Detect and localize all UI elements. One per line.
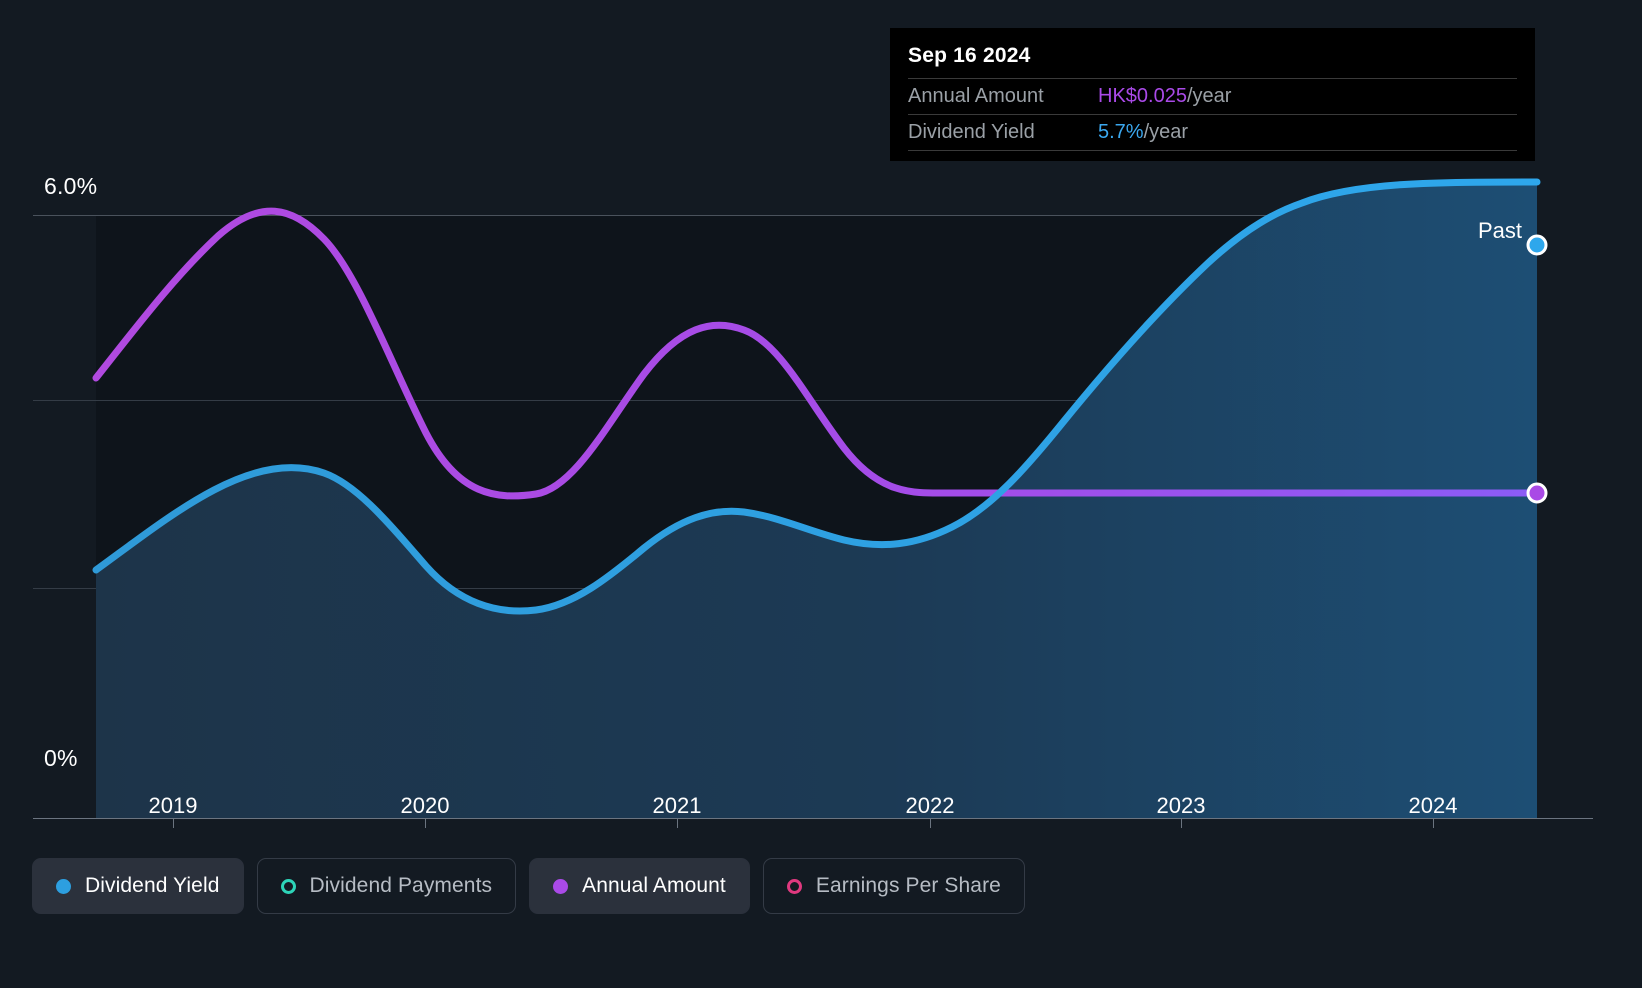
tooltip-suffix-dividend-yield: /year (1144, 121, 1188, 143)
tooltip-value-dividend-yield: 5.7%/year (1098, 121, 1188, 144)
chart-legend: Dividend Yield Dividend Payments Annual … (32, 858, 1025, 914)
legend-item-dividend-payments[interactable]: Dividend Payments (257, 858, 517, 914)
legend-label-annual-amount: Annual Amount (582, 874, 726, 898)
x-axis-label-2020: 2020 (401, 793, 450, 819)
annual-amount-end-marker (1528, 484, 1546, 502)
x-tick-2022 (930, 819, 931, 828)
legend-item-earnings-per-share[interactable]: Earnings Per Share (763, 858, 1025, 914)
tooltip-date: Sep 16 2024 (908, 44, 1517, 78)
tooltip-key-annual-amount: Annual Amount (908, 85, 1098, 108)
dividend-yield-area (96, 182, 1537, 818)
dividend-yield-end-marker (1528, 236, 1546, 254)
tooltip-value-annual-amount: HK$0.025/year (1098, 85, 1231, 108)
x-axis-label-2021: 2021 (653, 793, 702, 819)
tooltip-number-dividend-yield: 5.7% (1098, 121, 1144, 143)
past-annotation-label: Past (1478, 218, 1522, 244)
x-tick-2024 (1433, 819, 1434, 828)
legend-label-dividend-payments: Dividend Payments (310, 874, 493, 898)
plot-area (96, 215, 1537, 818)
tooltip-row-annual-amount: Annual Amount HK$0.025/year (908, 78, 1517, 114)
chart-tooltip: Sep 16 2024 Annual Amount HK$0.025/year … (890, 28, 1535, 161)
legend-item-annual-amount[interactable]: Annual Amount (529, 858, 750, 914)
legend-label-dividend-yield: Dividend Yield (85, 874, 220, 898)
legend-dot-hollow-icon (787, 879, 802, 894)
legend-label-earnings-per-share: Earnings Per Share (816, 874, 1001, 898)
y-axis-label-top: 6.0% (44, 173, 97, 200)
y-axis-label-zero: 0% (44, 745, 78, 772)
x-tick-2023 (1181, 819, 1182, 828)
tooltip-key-dividend-yield: Dividend Yield (908, 121, 1098, 144)
chart-svg (96, 215, 1537, 818)
x-tick-2019 (173, 819, 174, 828)
x-tick-2020 (425, 819, 426, 828)
chart-root: 6.0% 0% 2019 2020 2021 2022 2023 2024 Pa… (0, 0, 1642, 988)
legend-dot-hollow-icon (281, 879, 296, 894)
tooltip-row-dividend-yield: Dividend Yield 5.7%/year (908, 114, 1517, 151)
x-axis-label-2024: 2024 (1409, 793, 1458, 819)
tooltip-number-annual-amount: HK$0.025 (1098, 85, 1187, 107)
x-axis-line (33, 818, 1593, 819)
legend-dot-filled-icon (553, 879, 568, 894)
tooltip-suffix-annual-amount: /year (1187, 85, 1231, 107)
x-axis-label-2023: 2023 (1157, 793, 1206, 819)
legend-dot-filled-icon (56, 879, 71, 894)
x-axis-label-2022: 2022 (906, 793, 955, 819)
x-tick-2021 (677, 819, 678, 828)
x-axis-label-2019: 2019 (149, 793, 198, 819)
legend-item-dividend-yield[interactable]: Dividend Yield (32, 858, 244, 914)
